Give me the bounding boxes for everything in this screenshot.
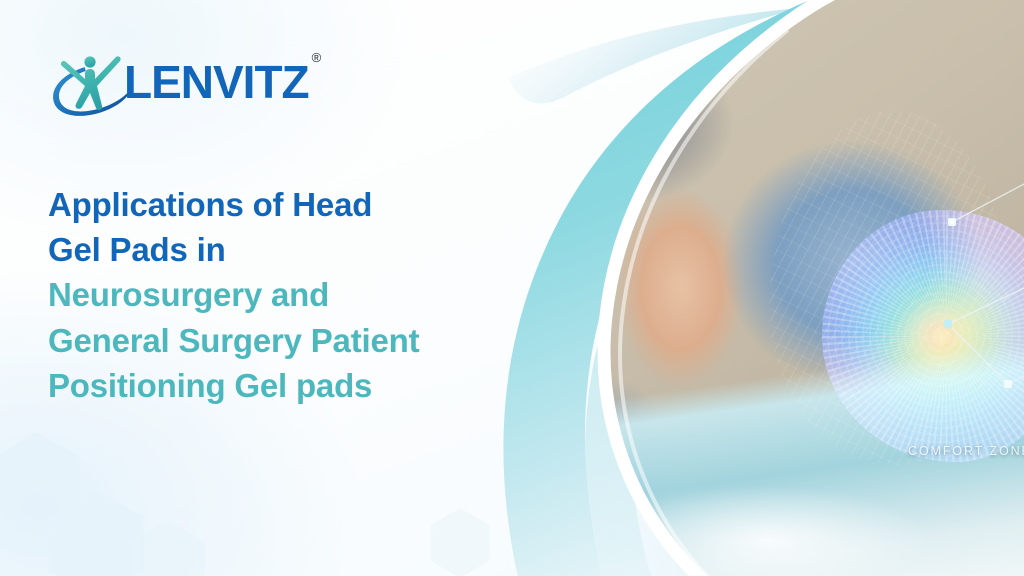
brand-wordmark: LENVITZ <box>124 59 309 105</box>
page-title: Applications of Head Gel Pads in Neurosu… <box>48 182 538 408</box>
headline-line-4: General Surgery Patient <box>48 318 538 363</box>
headline-line-3: Neurosurgery and <box>48 272 538 317</box>
headline-line-2: Gel Pads in <box>48 227 538 272</box>
photo-white-rim <box>540 0 1024 576</box>
hero-photo: COMFORT ZONE <box>540 0 1024 576</box>
headline-line-1: Applications of Head <box>48 182 538 227</box>
brand-logo[interactable]: LENVITZ ® <box>46 46 321 118</box>
headline-line-5: Positioning Gel pads <box>48 363 538 408</box>
banner-root: COMFORT ZONE <box>0 0 1024 576</box>
registered-trademark-symbol: ® <box>312 50 322 65</box>
